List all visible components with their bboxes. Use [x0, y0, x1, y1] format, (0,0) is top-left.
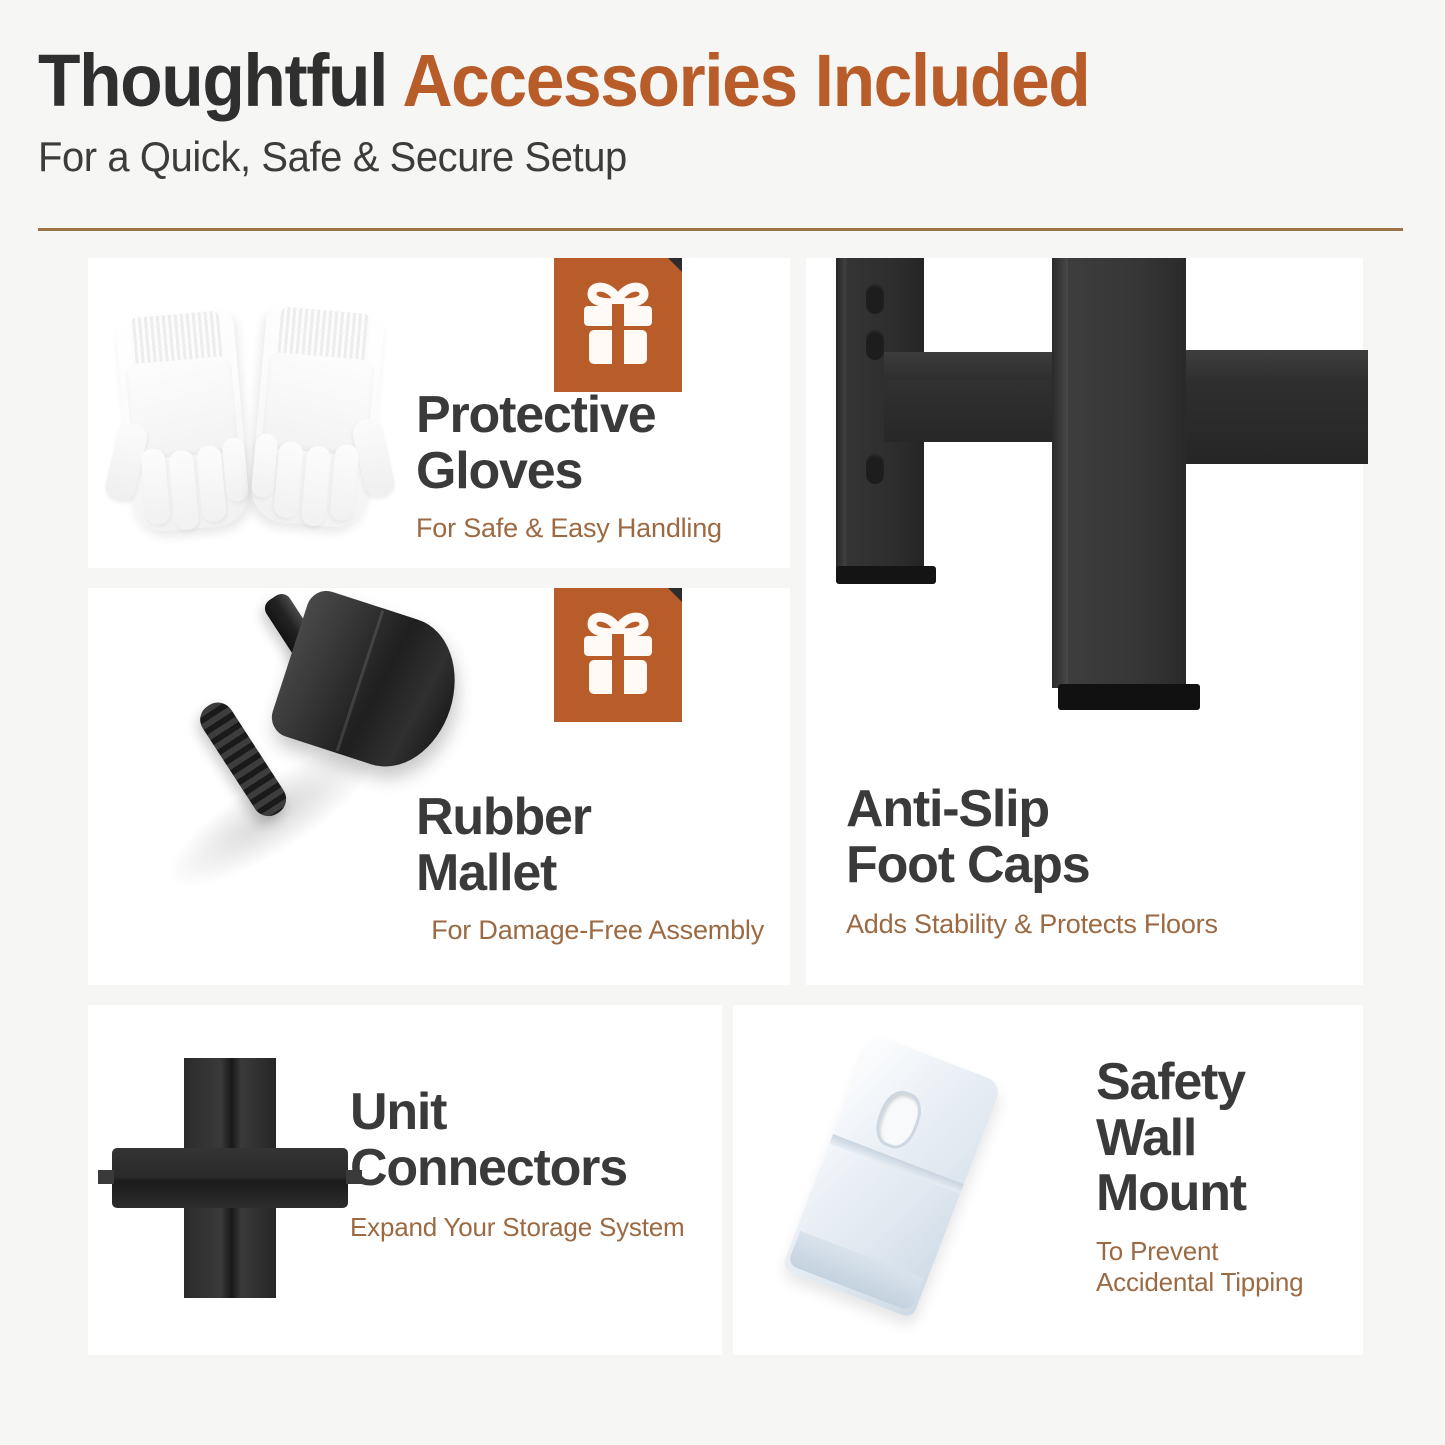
page-title-part1: Thoughtful	[38, 39, 402, 122]
card-subtitle-gloves: For Safe & Easy Handling	[416, 513, 722, 545]
shelf-right-top	[1184, 350, 1368, 378]
glove-right	[249, 305, 385, 529]
mallet-head-seam	[336, 610, 385, 752]
wall-bracket-screw-hole	[870, 1085, 928, 1153]
gift-badge	[554, 588, 682, 722]
card-subtitle-wallmount: To Prevent Accidental Tipping	[1096, 1236, 1303, 1297]
badge-fold-corner	[668, 588, 682, 602]
wall-bracket-lip	[787, 1231, 923, 1312]
card-title-connectors: Unit Connectors	[350, 1085, 684, 1196]
glove-finger	[329, 444, 360, 522]
infographic-page: Thoughtful Accessories Included For a Qu…	[0, 0, 1445, 1445]
post-hole	[866, 454, 884, 484]
card-subtitle-footcaps: Adds Stability & Protects Floors	[846, 909, 1218, 941]
connectors-text-block: Unit Connectors Expand Your Storage Syst…	[350, 1085, 684, 1243]
foot-caps-illustration	[806, 258, 1363, 778]
foot-cap-rear	[836, 566, 936, 584]
glove-finger	[273, 441, 304, 519]
glove-finger	[251, 433, 278, 499]
card-title-mallet: Rubber Mallet	[416, 790, 764, 901]
post-hole	[866, 330, 884, 360]
gloves-illustration	[110, 292, 410, 548]
card-title-footcaps: Anti-Slip Foot Caps	[846, 782, 1218, 893]
glove-left	[115, 309, 251, 533]
card-subtitle-mallet: For Damage-Free Assembly	[416, 915, 764, 947]
card-title-gloves: Protective Gloves	[416, 388, 722, 499]
glove-finger	[301, 445, 332, 527]
mallet-text-block: Rubber Mallet For Damage-Free Assembly	[416, 790, 764, 947]
page-title-accent: Accessories Included	[402, 39, 1089, 122]
footcaps-text-block: Anti-Slip Foot Caps Adds Stability & Pro…	[846, 782, 1218, 941]
wall-mount-illustration	[778, 1040, 1058, 1320]
gloves-text-block: Protective Gloves For Safe & Easy Handli…	[416, 388, 722, 545]
header-divider	[38, 228, 1403, 231]
front-post	[1068, 258, 1186, 688]
post-hole	[866, 284, 884, 314]
header: Thoughtful Accessories Included For a Qu…	[38, 44, 1418, 178]
wallmount-text-block: Safety Wall Mount To Prevent Accidental …	[1096, 1055, 1303, 1297]
card-subtitle-connectors: Expand Your Storage System	[350, 1212, 684, 1243]
card-title-wallmount: Safety Wall Mount	[1096, 1055, 1303, 1222]
page-title: Thoughtful Accessories Included	[38, 44, 1335, 118]
connector-tip-left	[98, 1170, 114, 1184]
glove-finger	[140, 448, 171, 526]
gift-badge	[554, 258, 682, 392]
shelf-right-face	[1184, 378, 1368, 464]
wall-bracket-body	[781, 1033, 1002, 1318]
glove-finger	[222, 437, 249, 503]
glove-finger	[169, 449, 200, 531]
foot-cap-front	[1058, 684, 1200, 710]
badge-fold-corner	[668, 258, 682, 272]
page-subtitle: For a Quick, Safe & Secure Setup	[38, 136, 1349, 178]
connector-horizontal-arm	[112, 1148, 348, 1208]
unit-connector-illustration	[110, 1058, 350, 1298]
